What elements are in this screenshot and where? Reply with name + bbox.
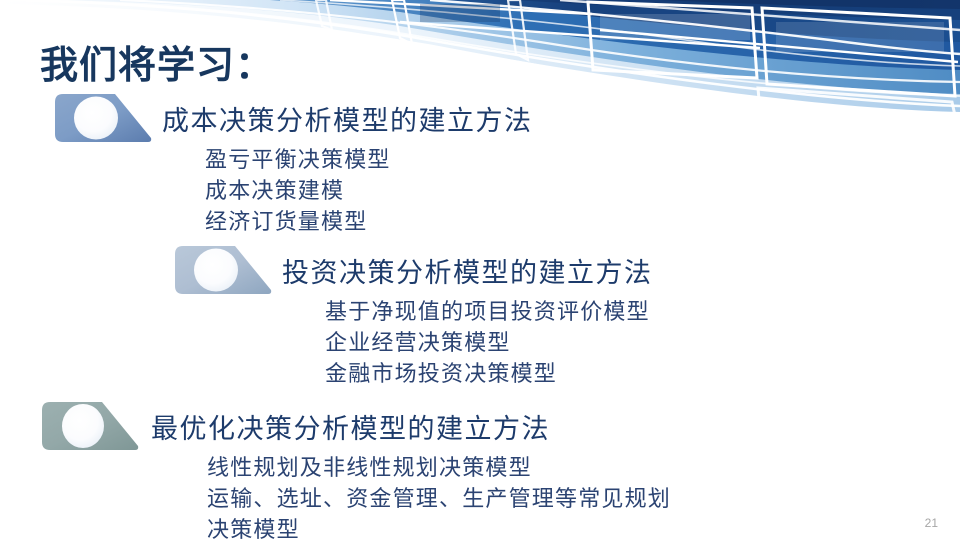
bullet-group-2: 投资决策分析模型的建立方法 基于净现值的项目投资评价模型 企业经营决策模型 金融… xyxy=(175,246,653,389)
list-item: 基于净现值的项目投资评价模型 xyxy=(325,296,653,327)
list-item: 成本决策建模 xyxy=(205,175,533,206)
list-item: 经济订货量模型 xyxy=(205,206,533,237)
oval-on-rounded-triangle-icon xyxy=(175,246,272,294)
list-item: 企业经营决策模型 xyxy=(325,327,653,358)
bullet-group-3: 最优化决策分析模型的建立方法 线性规划及非线性规划决策模型 运输、选址、资金管理… xyxy=(42,402,671,540)
oval-on-rounded-triangle-icon xyxy=(55,94,152,142)
page-number: 21 xyxy=(925,516,938,530)
list-item: 金融市场投资决策模型 xyxy=(325,358,653,389)
oval-on-rounded-triangle-icon xyxy=(42,402,139,450)
presentation-slide: 我们将学习： xyxy=(0,0,960,540)
list-item: 盈亏平衡决策模型 xyxy=(205,144,533,175)
list-item: 运输、选址、资金管理、生产管理等常见规划 xyxy=(207,483,671,514)
bullet-group-1-title: 成本决策分析模型的建立方法 xyxy=(162,99,533,138)
bullet-group-2-title: 投资决策分析模型的建立方法 xyxy=(282,251,653,290)
bullet-group-1-header: 成本决策分析模型的建立方法 xyxy=(55,94,533,142)
bullet-group-1: 成本决策分析模型的建立方法 盈亏平衡决策模型 成本决策建模 经济订货量模型 xyxy=(55,94,533,237)
list-item: 线性规划及非线性规划决策模型 xyxy=(207,452,671,483)
list-item: 决策模型 xyxy=(207,514,671,540)
bullet-group-2-header: 投资决策分析模型的建立方法 xyxy=(175,246,653,294)
bullet-group-2-sublist: 基于净现值的项目投资评价模型 企业经营决策模型 金融市场投资决策模型 xyxy=(325,296,653,389)
bullet-group-3-header: 最优化决策分析模型的建立方法 xyxy=(42,402,671,450)
bullet-group-3-title: 最优化决策分析模型的建立方法 xyxy=(151,407,550,446)
bullet-group-3-sublist: 线性规划及非线性规划决策模型 运输、选址、资金管理、生产管理等常见规划 决策模型 xyxy=(207,452,671,540)
page-title: 我们将学习： xyxy=(40,34,274,89)
bullet-group-1-sublist: 盈亏平衡决策模型 成本决策建模 经济订货量模型 xyxy=(205,144,533,237)
